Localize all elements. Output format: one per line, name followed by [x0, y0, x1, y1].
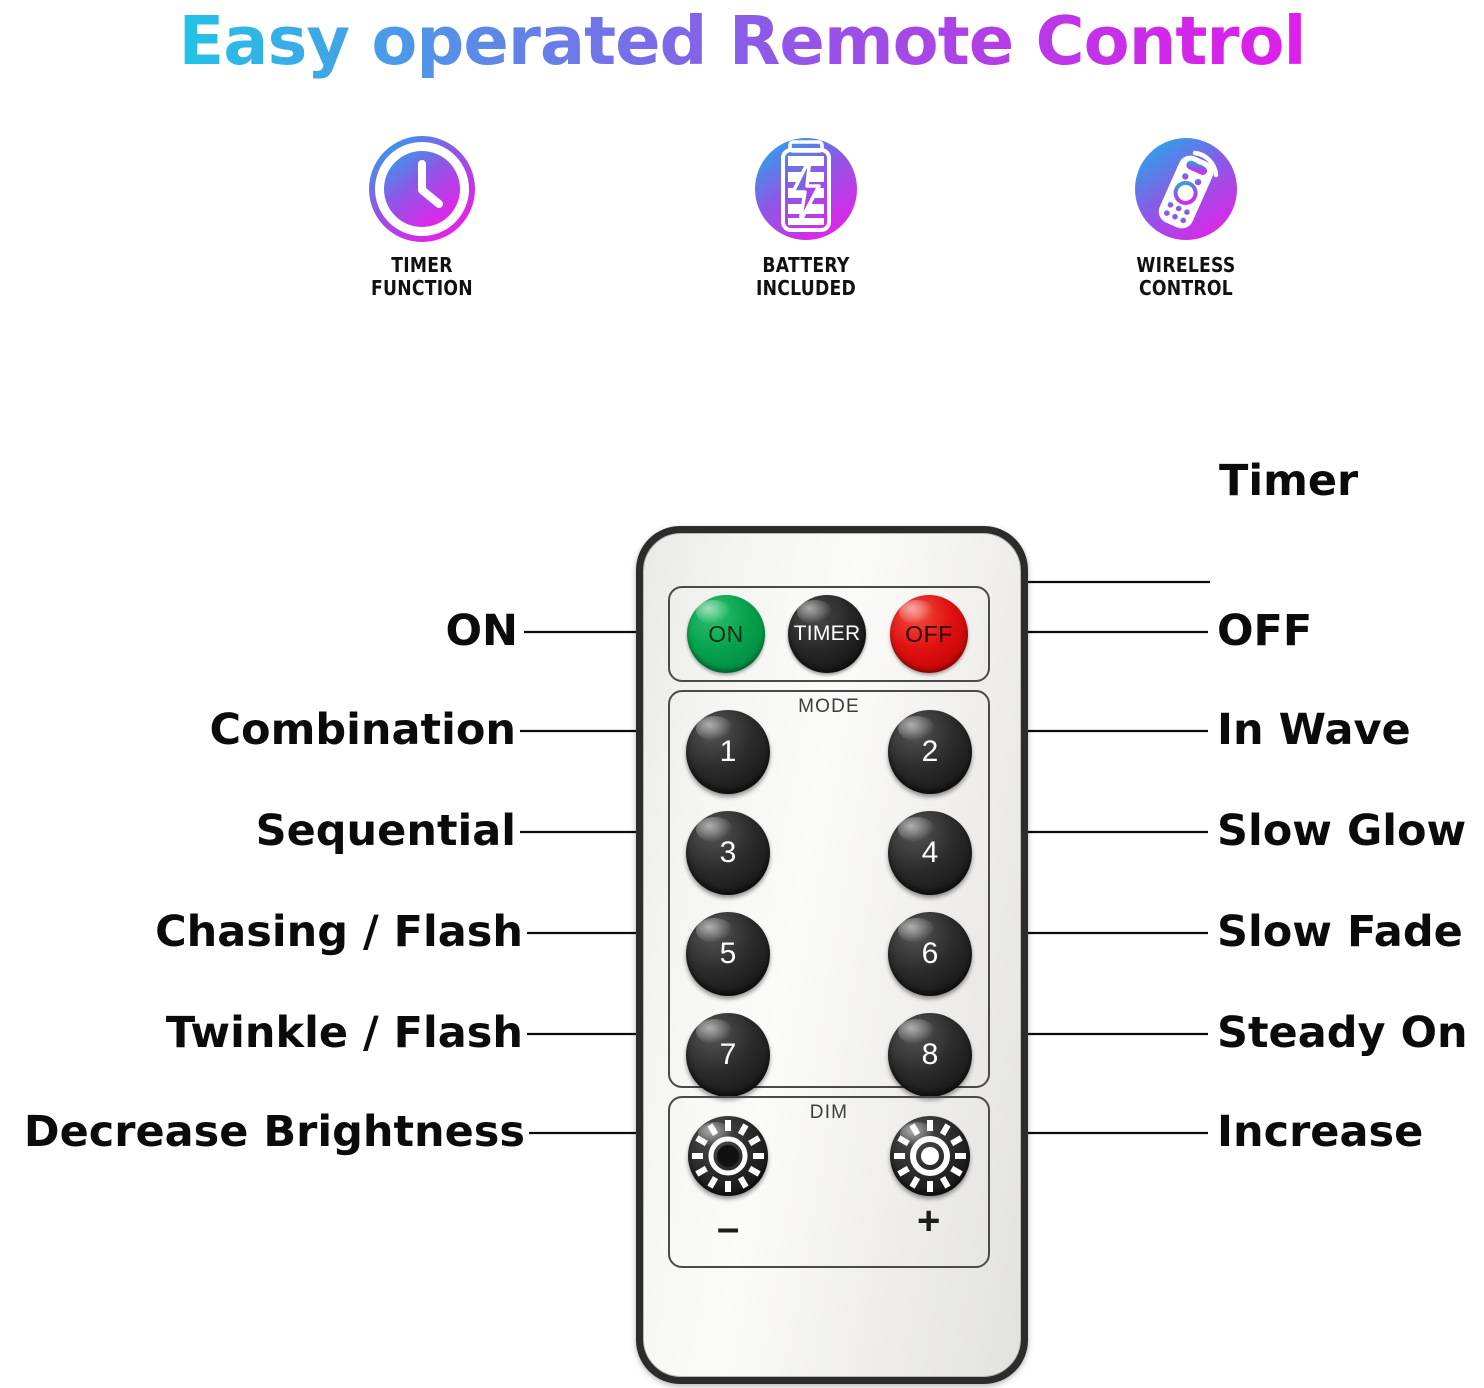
dim-panel: DIM — [668, 1096, 990, 1268]
timer-button[interactable]: TIMER — [788, 595, 866, 673]
battery-icon — [753, 136, 859, 242]
feature-wireless-control: WIRELESS CONTROL — [1056, 136, 1316, 300]
callout-slow-glow: Slow Glow — [1217, 810, 1466, 853]
page-title: Easy operated Remote Control — [0, 2, 1484, 80]
remote-faceplate: ON TIMER OFF MODE 1 2 3 4 5 6 — [643, 533, 1021, 1377]
callout-decrease-brightness: Decrease Brightness — [24, 1111, 525, 1154]
mode-button-2[interactable]: 2 — [888, 710, 972, 794]
brightness-high-icon — [890, 1116, 970, 1196]
power-panel: ON TIMER OFF — [668, 586, 990, 682]
mode-button-4[interactable]: 4 — [888, 811, 972, 895]
dim-down-button[interactable] — [688, 1116, 768, 1196]
callout-combination: Combination — [209, 709, 516, 752]
callout-in-wave: In Wave — [1217, 709, 1411, 752]
mode-button-1[interactable]: 1 — [686, 710, 770, 794]
on-button[interactable]: ON — [687, 595, 765, 673]
feature-battery-included: BATTERY INCLUDED — [676, 136, 936, 300]
callout-on: ON — [445, 610, 518, 653]
off-button[interactable]: OFF — [890, 595, 968, 673]
callout-off: OFF — [1217, 610, 1312, 653]
mode-button-8[interactable]: 8 — [888, 1013, 972, 1097]
feature-label: BATTERY INCLUDED — [694, 254, 918, 300]
mode-button-3[interactable]: 3 — [686, 811, 770, 895]
mode-button-6[interactable]: 6 — [888, 912, 972, 996]
dim-plus-sign: + — [917, 1201, 940, 1241]
remote-icon — [1133, 136, 1239, 242]
callout-sequential: Sequential — [256, 810, 516, 853]
dim-up-button[interactable] — [890, 1116, 970, 1196]
dim-minus-sign: – — [717, 1208, 739, 1248]
mode-button-5[interactable]: 5 — [686, 912, 770, 996]
callout-chasing-flash: Chasing ∕ Flash — [155, 911, 523, 954]
feature-label: WIRELESS CONTROL — [1074, 254, 1298, 300]
callout-slow-fade: Slow Fade — [1217, 911, 1463, 954]
callout-timer: Timer — [1219, 460, 1358, 503]
feature-timer-function: TIMER FUNCTION — [292, 136, 552, 300]
mode-panel: MODE 1 2 3 4 5 6 7 8 — [668, 690, 990, 1088]
mode-button-7[interactable]: 7 — [686, 1013, 770, 1097]
callout-increase: Increase — [1217, 1111, 1423, 1154]
brightness-low-icon — [688, 1116, 768, 1196]
callout-steady-on: Steady On — [1217, 1012, 1468, 1055]
remote-control-device: ON TIMER OFF MODE 1 2 3 4 5 6 — [636, 526, 1028, 1384]
feature-label: TIMER FUNCTION — [310, 254, 534, 300]
clock-icon — [369, 136, 475, 242]
callout-twinkle-flash: Twinkle ∕ Flash — [166, 1012, 523, 1055]
